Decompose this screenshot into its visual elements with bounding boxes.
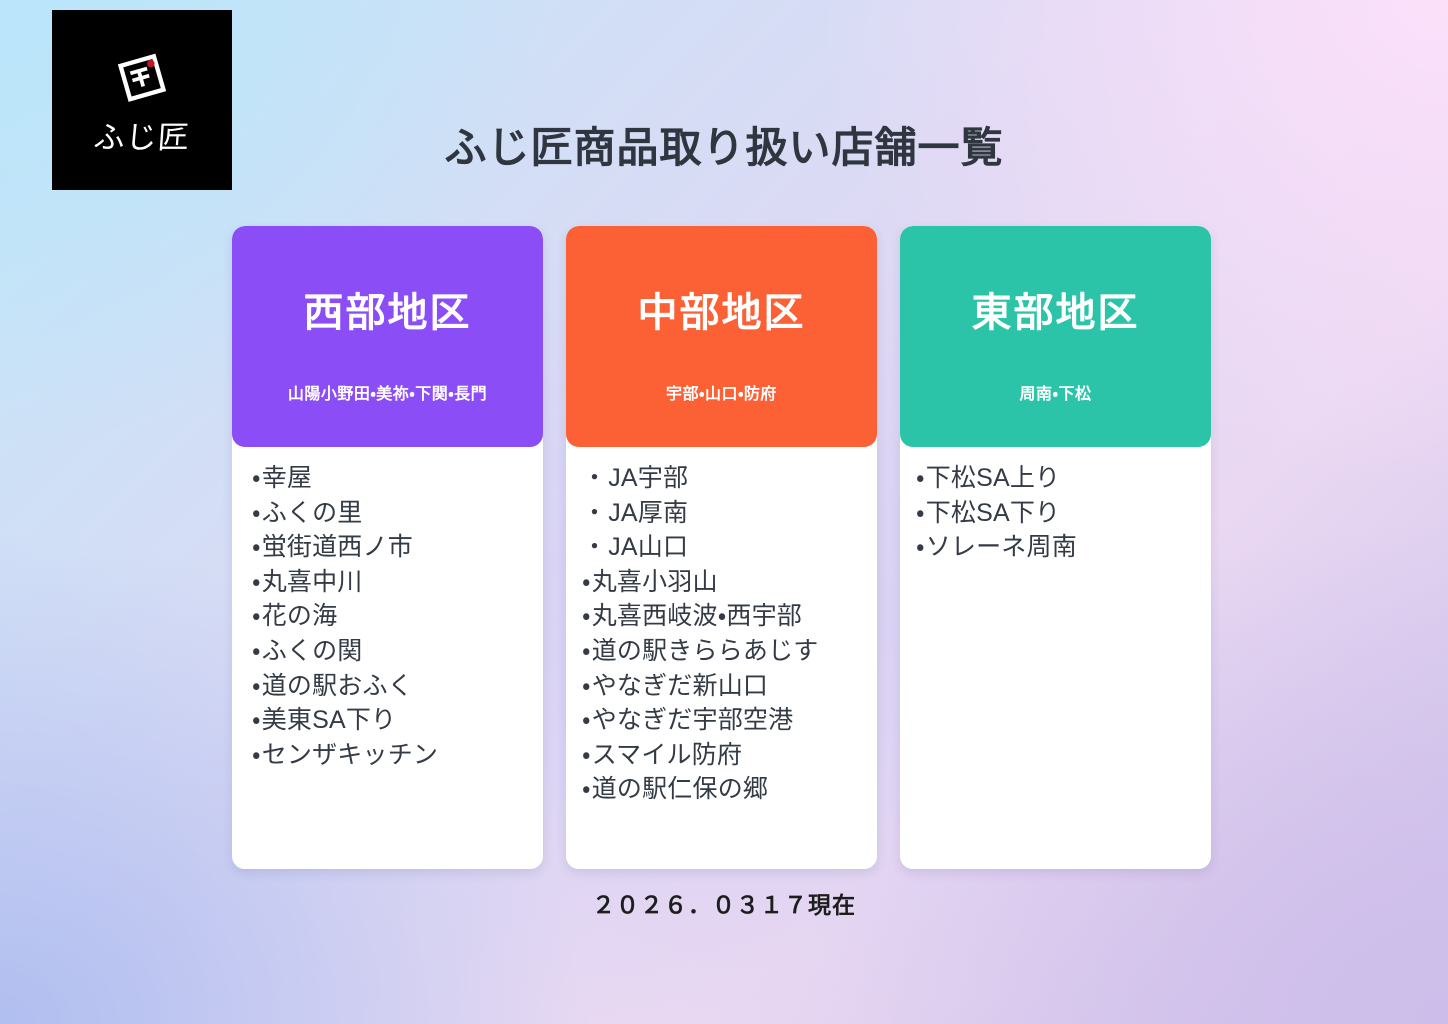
region-card-east: 東部地区 周南・下松 ・下松SA上り ・下松SA下り ・ソレーネ周南	[900, 226, 1211, 869]
region-body-east: ・下松SA上り ・下松SA下り ・ソレーネ周南	[900, 447, 1211, 869]
bullet-icon: ・	[916, 464, 925, 492]
store-name: 花の海	[262, 602, 338, 630]
store-name: 道の駅きららあじす	[592, 637, 819, 665]
footer-date: ２０２６．０３１７現在	[0, 886, 1448, 920]
bullet-icon: ・	[582, 464, 607, 492]
bullet-icon: ・	[582, 602, 591, 630]
list-item: ・センザキッチン	[252, 738, 543, 773]
list-item: ・道の駅仁保の郷	[582, 772, 877, 807]
store-name: 丸喜小羽山	[592, 568, 718, 596]
store-name: 下松SA上り	[926, 464, 1061, 492]
list-item: ・JA宇部	[582, 461, 877, 496]
region-title-central: 中部地区	[638, 280, 806, 338]
store-name: ふくの里	[262, 499, 363, 527]
list-item: ・美東SA下り	[252, 703, 543, 738]
region-card-group: 西部地区 山陽小野田・美祢・下関・長門 ・幸屋 ・ふくの里 ・蛍街道西ノ市 ・丸…	[232, 226, 1212, 869]
region-card-west: 西部地区 山陽小野田・美祢・下関・長門 ・幸屋 ・ふくの里 ・蛍街道西ノ市 ・丸…	[232, 226, 543, 869]
page-title: ふじ匠商品取り扱い店舗一覧	[0, 114, 1448, 175]
list-item: ・丸喜西岐波・西宇部	[582, 599, 877, 634]
region-subtitle-central: 宇部・山口・防府	[666, 380, 777, 404]
list-item: ・JA山口	[582, 530, 877, 565]
store-name: 道の駅おふく	[262, 672, 413, 700]
region-header-central: 中部地区 宇部・山口・防府	[566, 226, 877, 447]
store-name: 美東SA下り	[262, 706, 397, 734]
list-item: ・花の海	[252, 599, 543, 634]
store-name: やなぎだ新山口	[592, 672, 768, 700]
list-item: ・やなぎだ宇部空港	[582, 703, 877, 738]
list-item: ・丸喜中川	[252, 565, 543, 600]
bullet-icon: ・	[916, 499, 925, 527]
bullet-icon: ・	[252, 464, 261, 492]
store-name: 道の駅仁保の郷	[592, 775, 768, 803]
list-item: ・スマイル防府	[582, 738, 877, 773]
store-name: 蛍街道西ノ市	[262, 533, 413, 561]
bullet-icon: ・	[582, 637, 591, 665]
bullet-icon: ・	[252, 533, 261, 561]
list-item: ・幸屋	[252, 461, 543, 496]
bullet-icon: ・	[582, 499, 607, 527]
store-name: やなぎだ宇部空港	[592, 706, 794, 734]
region-body-central: ・JA宇部 ・JA厚南 ・JA山口 ・丸喜小羽山 ・丸喜西岐波・西宇部 ・道の駅…	[566, 447, 877, 869]
list-item: ・ふくの関	[252, 634, 543, 669]
bullet-icon: ・	[252, 568, 261, 596]
store-name: 幸屋	[262, 464, 312, 492]
store-list-west: ・幸屋 ・ふくの里 ・蛍街道西ノ市 ・丸喜中川 ・花の海 ・ふくの関 ・道の駅お…	[232, 461, 543, 772]
store-list-east: ・下松SA上り ・下松SA下り ・ソレーネ周南	[900, 461, 1211, 565]
store-name: 丸喜中川	[262, 568, 363, 596]
store-name: 丸喜西岐波・西宇部	[592, 602, 802, 630]
store-list-central: ・JA宇部 ・JA厚南 ・JA山口 ・丸喜小羽山 ・丸喜西岐波・西宇部 ・道の駅…	[566, 461, 877, 807]
bullet-icon: ・	[582, 568, 591, 596]
list-item: ・JA厚南	[582, 496, 877, 531]
region-header-west: 西部地区 山陽小野田・美祢・下関・長門	[232, 226, 543, 447]
list-item: ・下松SA下り	[916, 496, 1211, 531]
region-header-east: 東部地区 周南・下松	[900, 226, 1211, 447]
list-item: ・ふくの里	[252, 496, 543, 531]
bullet-icon: ・	[252, 672, 261, 700]
store-name: JA宇部	[608, 464, 688, 492]
poster-root: ふじ匠 ふじ匠商品取り扱い店舗一覧 西部地区 山陽小野田・美祢・下関・長門 ・幸…	[0, 0, 1448, 1024]
bullet-icon: ・	[252, 637, 261, 665]
list-item: ・丸喜小羽山	[582, 565, 877, 600]
bullet-icon: ・	[252, 741, 261, 769]
region-title-west: 西部地区	[304, 280, 472, 338]
bullet-icon: ・	[252, 602, 261, 630]
list-item: ・蛍街道西ノ市	[252, 530, 543, 565]
list-item: ・道の駅きららあじす	[582, 634, 877, 669]
store-name: JA厚南	[608, 499, 688, 527]
bullet-icon: ・	[582, 672, 591, 700]
region-title-east: 東部地区	[972, 280, 1140, 338]
bullet-icon: ・	[582, 775, 591, 803]
bullet-icon: ・	[252, 706, 261, 734]
store-name: スマイル防府	[592, 741, 742, 769]
store-name: 下松SA下り	[926, 499, 1061, 527]
fuji-takumi-crest-icon	[111, 48, 173, 110]
bullet-icon: ・	[582, 706, 591, 734]
store-name: ソレーネ周南	[926, 533, 1077, 561]
region-subtitle-east: 周南・下松	[1020, 380, 1092, 404]
bullet-icon: ・	[582, 741, 591, 769]
list-item: ・道の駅おふく	[252, 669, 543, 704]
store-name: センザキッチン	[262, 741, 438, 769]
store-name: JA山口	[608, 533, 688, 561]
store-name: ふくの関	[262, 637, 363, 665]
bullet-icon: ・	[582, 533, 607, 561]
list-item: ・下松SA上り	[916, 461, 1211, 496]
bullet-icon: ・	[916, 533, 925, 561]
list-item: ・ソレーネ周南	[916, 530, 1211, 565]
region-body-west: ・幸屋 ・ふくの里 ・蛍街道西ノ市 ・丸喜中川 ・花の海 ・ふくの関 ・道の駅お…	[232, 447, 543, 869]
bullet-icon: ・	[252, 499, 261, 527]
list-item: ・やなぎだ新山口	[582, 669, 877, 704]
region-subtitle-west: 山陽小野田・美祢・下関・長門	[288, 380, 487, 404]
region-card-central: 中部地区 宇部・山口・防府 ・JA宇部 ・JA厚南 ・JA山口 ・丸喜小羽山 ・…	[566, 226, 877, 869]
